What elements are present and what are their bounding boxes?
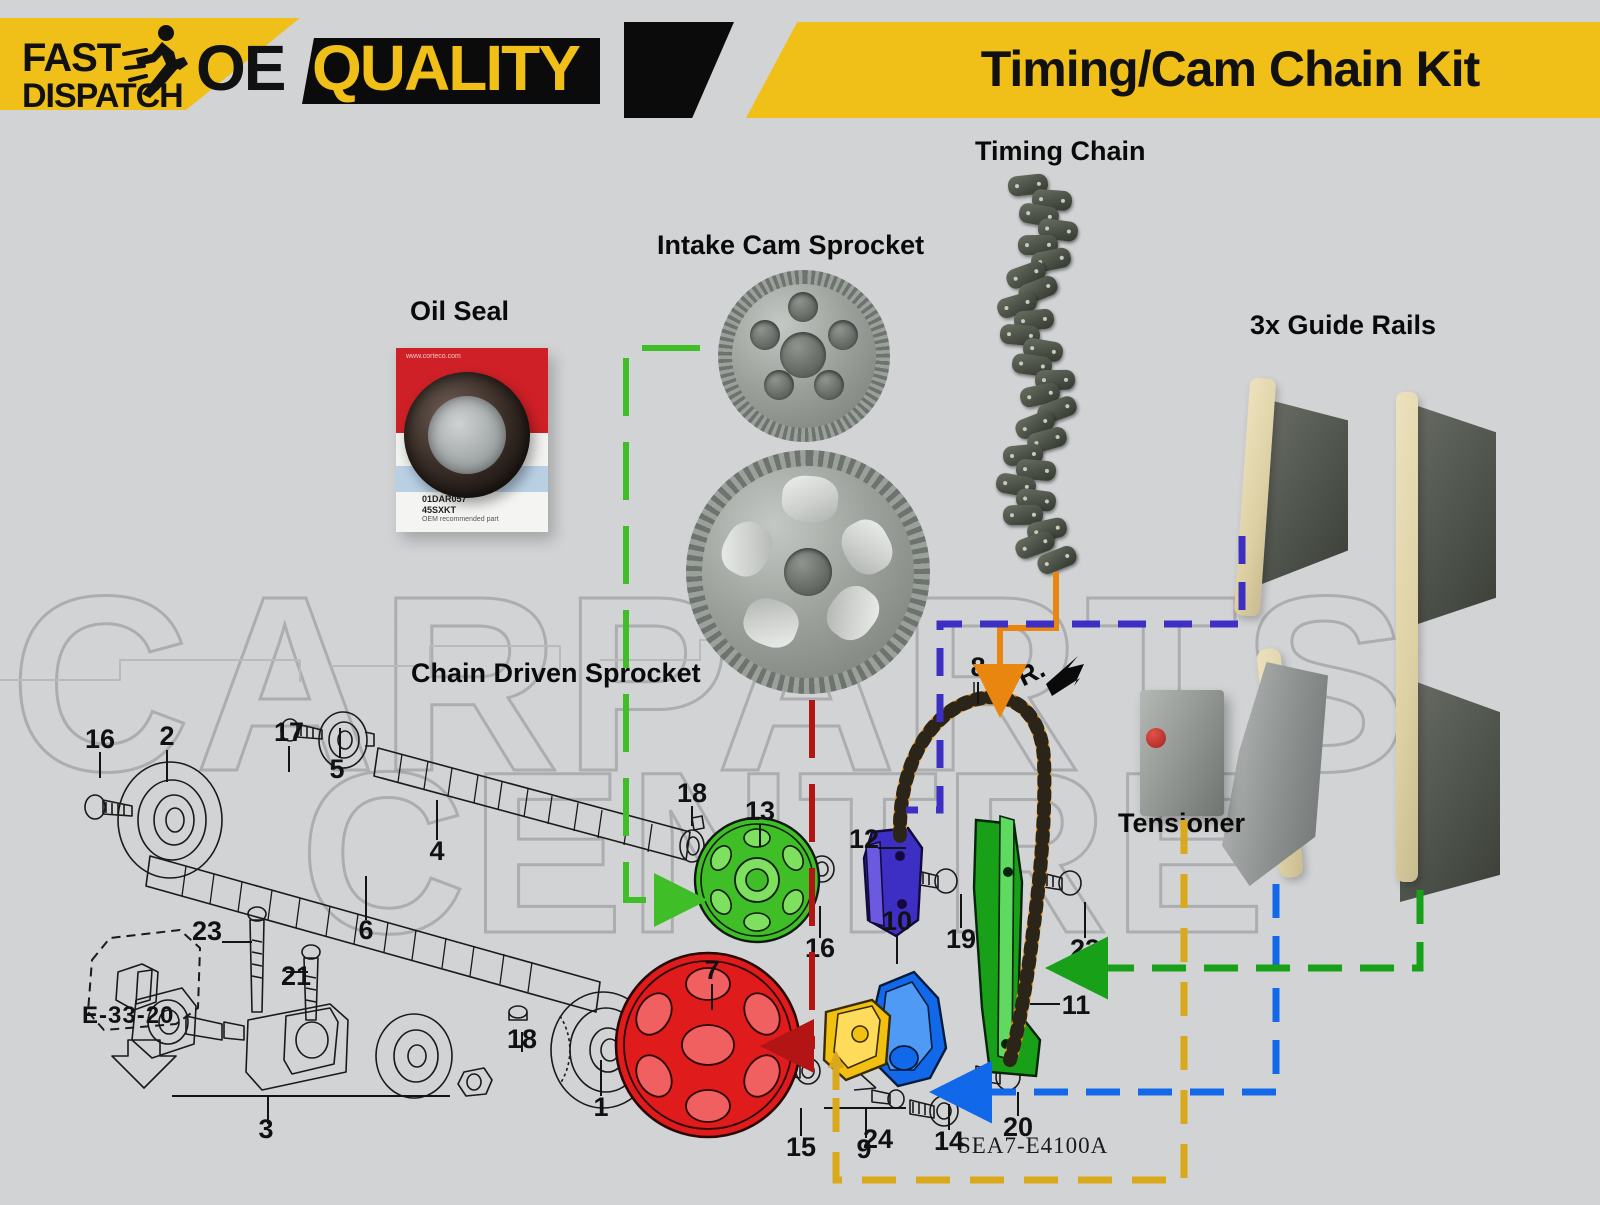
sprocket-center-bore	[780, 332, 826, 378]
exploded-parts-diagram: FR.	[0, 620, 1200, 1205]
part-6-camshaft	[146, 856, 600, 1012]
part-2-cam-gear	[118, 762, 222, 878]
part-3-oil-pump-assembly	[132, 988, 492, 1098]
chain-driven-sprocket-photo	[686, 450, 930, 694]
part-18-dowel-pin	[509, 1006, 527, 1020]
timing-chain-photo	[1000, 175, 1108, 575]
part-14-bolt	[910, 1096, 958, 1126]
box-part-line-3: OEM recommended part	[422, 516, 499, 523]
part-12-purple-guide-rail	[864, 828, 922, 936]
part-17-bolt	[281, 719, 322, 741]
part-5-pulser-plate	[319, 712, 374, 768]
sprocket-center-bore	[784, 548, 832, 596]
running-man-icon	[122, 24, 192, 98]
diagram-reference-code: SEA7-E4100A	[958, 1133, 1108, 1159]
tensioner-red-cap	[1146, 728, 1166, 748]
label-chain-driven-sprocket: Chain Driven Sprocket	[411, 658, 701, 689]
part-4-camshaft	[374, 748, 704, 862]
part-13-green-sprocket	[695, 818, 819, 942]
tensioner-photo	[1140, 690, 1224, 816]
sprocket-hole	[764, 370, 794, 400]
section-reference-label: E-33-20	[82, 1002, 174, 1030]
oil-seal-ring	[404, 372, 530, 498]
part-18-dowel-pin	[692, 816, 704, 830]
guide-rail-3-nylon	[1396, 392, 1418, 882]
page-title: Timing/Cam Chain Kit	[880, 42, 1580, 96]
box-website: www.corteco.com	[406, 353, 461, 360]
black-parallelogram	[624, 22, 734, 118]
label-tensioner: Tensioner	[1118, 808, 1245, 839]
sprocket-hole	[750, 320, 780, 350]
label-oil-seal: Oil Seal	[410, 296, 509, 327]
guide-rail-1-bracket	[1262, 398, 1348, 584]
part-7-red-sprocket	[616, 953, 800, 1137]
sprocket-hole	[814, 370, 844, 400]
sprocket-hole	[828, 320, 858, 350]
part-16-bolt	[85, 795, 132, 819]
product-image-canvas: CARPARTS CENTRE FAST DISPATCH OE QUALITY…	[0, 0, 1600, 1205]
header-banner: FAST DISPATCH OE QUALITY Timing/Cam Chai…	[0, 0, 1600, 128]
box-part-line-2: 45SXKT	[422, 505, 456, 515]
intake-cam-sprocket-photo	[718, 270, 890, 442]
guide-rail-2-arm	[1222, 662, 1328, 886]
label-intake-cam-sprocket: Intake Cam Sprocket	[657, 230, 924, 261]
oe-label: OE	[196, 36, 284, 100]
sprocket-hole	[788, 292, 818, 322]
quality-label: QUALITY	[312, 36, 579, 100]
part-23-bolt	[248, 907, 266, 1012]
front-direction-marker: FR.	[997, 653, 1084, 699]
label-guide-rails: 3x Guide Rails	[1250, 310, 1436, 341]
label-timing-chain: Timing Chain	[975, 136, 1146, 167]
